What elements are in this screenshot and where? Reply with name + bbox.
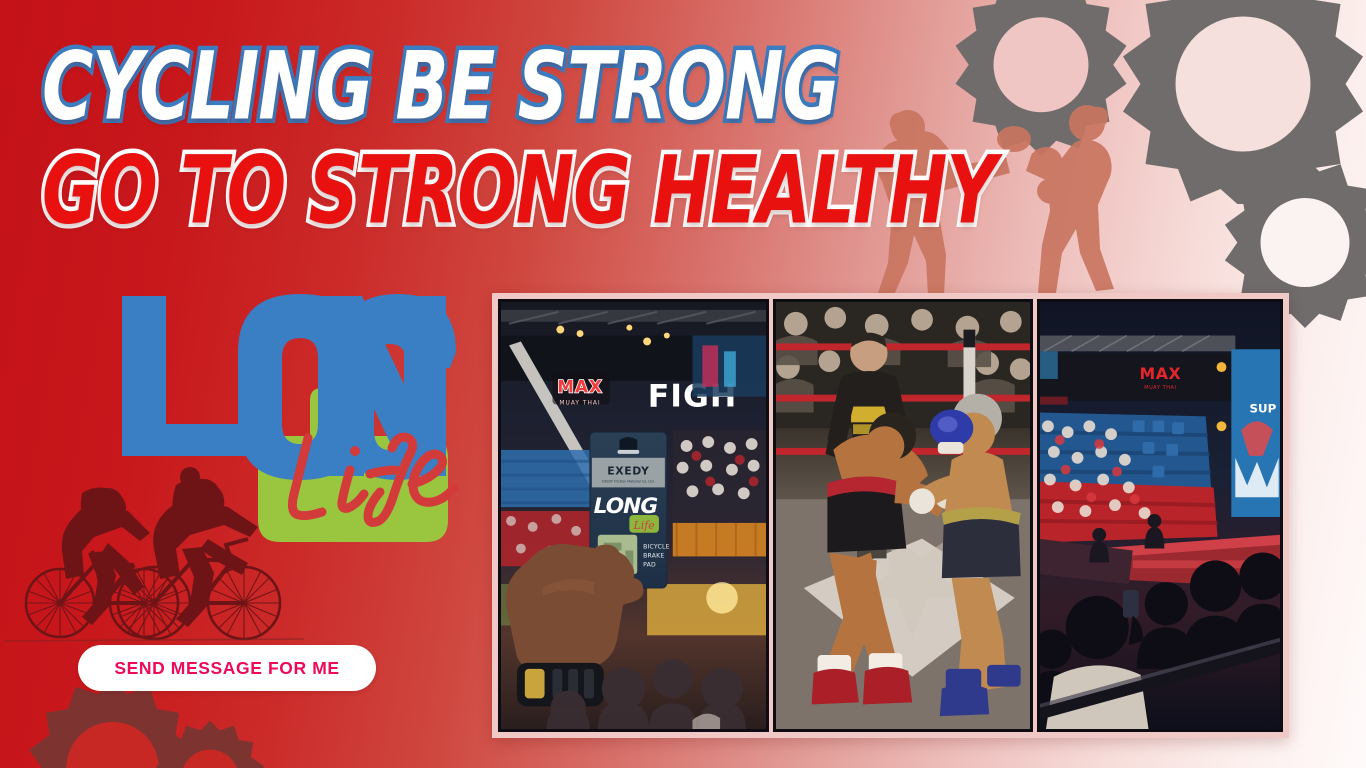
svg-text:MUAY THAI: MUAY THAI (559, 401, 600, 407)
collage-photo-arena[interactable]: MAX MUAY THAI SUP (1037, 299, 1283, 732)
collage-photo-brake-pad[interactable]: MAX MUAY THAI FIGH (498, 299, 769, 732)
long-life-logo (112, 288, 482, 553)
svg-text:BICYCLE: BICYCLE (643, 544, 669, 551)
send-message-button[interactable]: SEND MESSAGE FOR ME (78, 645, 376, 691)
photo-collage: MAX MUAY THAI FIGH (492, 293, 1289, 738)
svg-text:BRAKE: BRAKE (643, 552, 664, 559)
svg-text:MAX: MAX (557, 377, 603, 397)
logo-wordmark-long (122, 294, 456, 480)
gear-top-right-large-icon (1118, 0, 1366, 204)
svg-text:EXEDY Friction Material Co. Lt: EXEDY Friction Material Co. Ltd. (602, 479, 655, 483)
svg-text:PAD: PAD (643, 561, 656, 568)
collage-photo-muay-thai-fight[interactable] (773, 299, 1034, 732)
svg-text:SUP: SUP (1250, 401, 1277, 415)
svg-text:MAX: MAX (1140, 364, 1182, 383)
svg-text:EXEDY: EXEDY (607, 465, 649, 478)
gear-bottom-left-small-icon (150, 716, 270, 768)
svg-text:Life: Life (633, 519, 655, 532)
svg-text:MUAY THAI: MUAY THAI (1144, 385, 1176, 391)
promo-banner: CYCLING BE STRONG GO TO STRONG HEALTHY (0, 0, 1366, 768)
headline-line-2: GO TO STRONG HEALTHY (42, 146, 996, 235)
headline-group: CYCLING BE STRONG GO TO STRONG HEALTHY (42, 42, 1025, 215)
headline-line-1: CYCLING BE STRONG (42, 42, 996, 131)
send-message-button-label: SEND MESSAGE FOR ME (114, 658, 339, 679)
